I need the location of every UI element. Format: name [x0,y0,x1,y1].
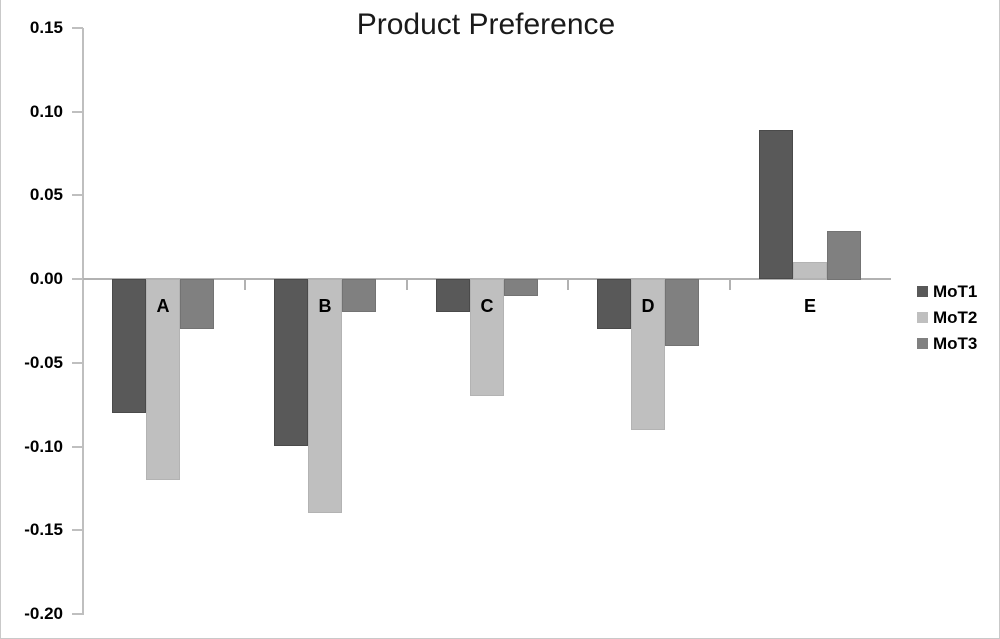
category-label-E: E [780,296,840,317]
legend-item-MoT2[interactable]: MoT2 [917,304,1000,330]
category-axis-tick [729,280,731,290]
bar-MoT3-C [504,279,538,296]
chart-legend: MoT1MoT2MoT3 [917,278,1000,356]
category-label-B: B [295,296,355,317]
y-axis-tick [72,446,83,448]
y-axis-tick-label: 0.15 [0,18,63,38]
chart-container: Product Preference 0.150.100.050.00-0.05… [0,0,1000,639]
legend-swatch-icon [917,286,928,297]
y-axis-tick-label: -0.15 [0,520,63,540]
y-axis-tick-label: -0.10 [0,437,63,457]
category-axis-tick [406,280,408,290]
category-label-A: A [133,296,193,317]
y-axis-tick [72,362,83,364]
legend-item-MoT1[interactable]: MoT1 [917,278,1000,304]
value-axis-line [82,28,84,615]
y-axis-tick-label: 0.10 [0,102,63,122]
legend-label: MoT1 [933,283,977,300]
category-axis-tick [567,280,569,290]
legend-swatch-icon [917,312,928,323]
chart-title-text: Product Preference [357,8,615,42]
category-label-D: D [618,296,678,317]
y-axis-tick-label: 0.00 [0,269,63,289]
bar-MoT1-E [759,130,793,279]
y-axis-tick-label: -0.05 [0,353,63,373]
y-axis-tick [72,278,83,280]
y-axis-tick [72,194,83,196]
category-label-C: C [457,296,517,317]
y-axis-tick-label: 0.05 [0,185,63,205]
legend-item-MoT3[interactable]: MoT3 [917,330,1000,356]
bar-MoT2-E [793,262,827,279]
chart-title: Product Preference [1,8,1000,42]
y-axis-tick-label: -0.20 [0,604,63,624]
legend-label: MoT2 [933,309,977,326]
y-axis-tick [72,27,83,29]
legend-swatch-icon [917,338,928,349]
y-axis-tick [72,613,83,615]
y-axis-tick [72,111,83,113]
legend-label: MoT3 [933,335,977,352]
y-axis-tick [72,529,83,531]
bar-MoT3-E [827,231,861,280]
category-axis-tick [244,280,246,290]
